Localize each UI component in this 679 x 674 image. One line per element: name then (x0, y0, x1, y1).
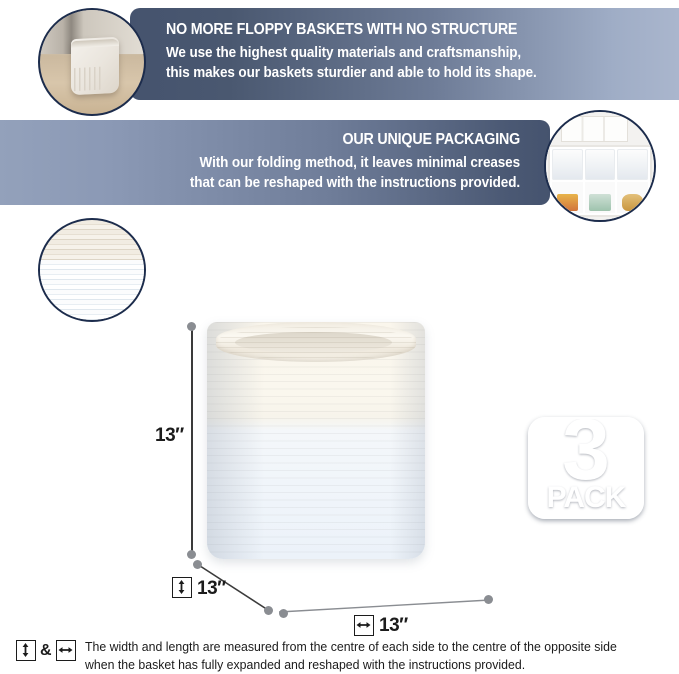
measurement-disclaimer: & The width and length are measured from… (0, 638, 679, 673)
depth-dimension-dot-end (264, 606, 273, 615)
photo-shelf-items (552, 182, 583, 213)
banner-body-line: this makes our baskets sturdier and able… (166, 63, 643, 83)
depth-dimension-label: 13″ (197, 578, 226, 600)
footer-text-line: when the basket has fully expanded and r… (85, 656, 656, 674)
footer-text-line: The width and length are measured from t… (85, 638, 656, 656)
photo-shelf-basket (617, 149, 648, 180)
banner-body-line: that can be reshaped with the instructio… (36, 173, 520, 193)
banner-body-line: We use the highest quality materials and… (166, 43, 643, 63)
banner-title-unique-packaging: OUR UNIQUE PACKAGING (42, 131, 520, 148)
banner-title-no-floppy: NO MORE FLOPPY BASKETS WITH NO STRUCTURE (166, 21, 638, 38)
banner-body-unique-packaging: With our folding method, it leaves minim… (36, 153, 520, 193)
product-dimension-diagram: 13″ 13″ 13″ (150, 312, 530, 632)
banner-body-line: With our folding method, it leaves minim… (36, 153, 520, 173)
floppy-basket-photo (38, 8, 146, 116)
footer-ampersand: & (40, 642, 52, 660)
vertical-arrow-icon (16, 640, 36, 661)
photo-rope-lower (40, 260, 144, 320)
footer-text: The width and length are measured from t… (85, 638, 665, 674)
photo-shelf-basket (552, 149, 583, 180)
width-dimension-dot-left (279, 609, 288, 618)
three-pack-badge: 3 PACK (528, 417, 644, 519)
footer-icon-group: & (16, 640, 76, 661)
vertical-arrow-icon (172, 577, 192, 598)
horizontal-double-arrow-glyph (57, 641, 74, 659)
banner-body-line: compliments virtually any styles! (165, 282, 643, 302)
horizontal-double-arrow-glyph (355, 616, 372, 634)
packaging-shelf-photo (544, 110, 656, 222)
banner-title-chic-design: CHIC, ELEGANT DESIGN (165, 240, 638, 257)
photo-shelf-basket (585, 149, 616, 180)
depth-dimension-dot-start (193, 560, 202, 569)
width-dimension-dot-right (484, 595, 493, 604)
width-dimension-label: 13″ (379, 615, 408, 637)
photo-cubby-shelf (548, 145, 652, 216)
vertical-double-arrow-glyph (173, 578, 190, 596)
height-dimension-dot-top (187, 322, 196, 331)
badge-unit-label: PACK (530, 483, 642, 513)
rope-texture-photo (38, 218, 146, 322)
infographic-canvas: NO MORE FLOPPY BASKETS WITH NO STRUCTURE… (0, 0, 679, 673)
product-basket-image (207, 322, 425, 559)
banner-body-no-floppy: We use the highest quality materials and… (166, 43, 643, 83)
feature-banner-no-floppy: NO MORE FLOPPY BASKETS WITH NO STRUCTURE… (130, 8, 679, 100)
vertical-double-arrow-glyph (17, 641, 34, 659)
basket-right-shading (390, 322, 425, 559)
photo-toy (557, 194, 578, 211)
banner-body-chic-design: Gorgeous neutral and chic color rope bas… (165, 262, 643, 302)
horizontal-arrow-icon (56, 640, 76, 661)
photo-books (589, 194, 610, 211)
photo-teddy (622, 194, 643, 211)
horizontal-arrow-icon (354, 615, 374, 636)
feature-banner-chic-design: CHIC, ELEGANT DESIGN Gorgeous neutral an… (137, 228, 679, 311)
photo-wall-frames (561, 116, 628, 142)
photo-shelf-items (585, 182, 616, 213)
photo-shelf-items (617, 182, 648, 213)
basket-top-opening (216, 327, 417, 360)
banner-body-line: Gorgeous neutral and chic color rope bas… (165, 262, 643, 282)
height-dimension-label: 13″ (155, 425, 184, 447)
photo-collapsed-basket (71, 37, 119, 96)
height-dimension-dot-bottom (187, 550, 196, 559)
height-dimension-line (191, 326, 193, 554)
feature-banner-unique-packaging: OUR UNIQUE PACKAGING With our folding me… (0, 120, 550, 205)
